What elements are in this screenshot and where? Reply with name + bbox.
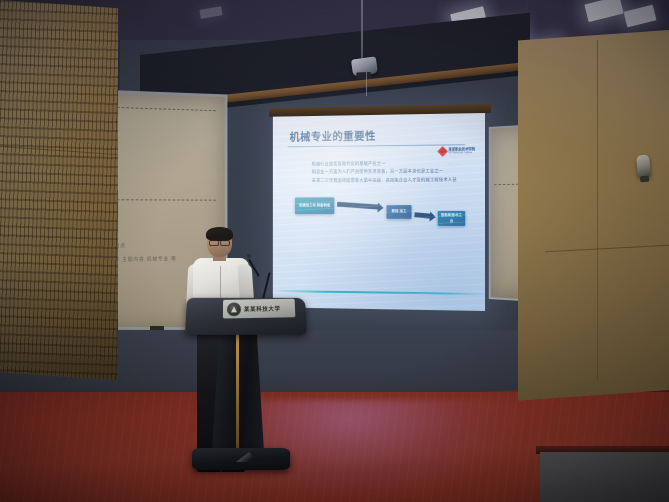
slide-logo: 某某职业技术学院 XX Polytechnic Institute	[439, 147, 475, 155]
wood-panel-left-shading	[0, 0, 118, 380]
slide-flowchart: 机械加工与 装备制造 数控 加工 智能制造与工 业	[295, 197, 467, 231]
slide-accent-line	[273, 290, 485, 295]
projector-cable	[366, 72, 367, 96]
logo-line2: XX Polytechnic Institute	[448, 152, 475, 155]
eyeglasses-icon	[209, 239, 230, 244]
podium-nameplate: 某某科技大学	[223, 299, 295, 319]
wall-speaker	[636, 154, 651, 177]
flow-box-1: 机械加工与 装备制造	[295, 197, 334, 214]
slide-body: 机械行业是实现现代化的基础产业之一 制造业一方面为人们产品提供先进装备，另一方面…	[312, 159, 465, 185]
flow-box-2: 数控 加工	[386, 205, 411, 219]
lower-floor-area	[540, 452, 669, 502]
wood-panel-seam	[597, 40, 598, 380]
slide-body-line: 未来二三年我国将既需要大量中高级、高技能企业人才及机械工程技术人员	[312, 176, 465, 185]
screen-surface: 机械专业的重要性 某某职业技术学院 XX Polytechnic Institu…	[273, 113, 485, 311]
lecture-hall-photo: 时间 地点 主讲 主题内容 机械专业 等 机械专业的重要性 某某职业技术学院 X…	[0, 0, 669, 502]
projector-mount-rod	[361, 0, 363, 60]
microphone-head	[247, 254, 251, 258]
wood-panel-right-shading	[518, 30, 669, 401]
flow-box-3: 智能制造与工 业	[438, 211, 465, 226]
ceiling-projector	[351, 56, 378, 76]
logo-diamond-icon	[437, 146, 448, 157]
projection-screen: 机械专业的重要性 某某职业技术学院 XX Polytechnic Institu…	[273, 113, 485, 311]
flow-arrow-1	[337, 202, 379, 210]
logo-text: 某某职业技术学院 XX Polytechnic Institute	[448, 148, 475, 155]
podium-gold-stripe	[236, 333, 239, 451]
slide-title: 机械专业的重要性	[289, 128, 375, 145]
podium-institution-name: 某某科技大学	[244, 304, 281, 312]
flow-arrow-2	[414, 212, 431, 218]
university-crest-icon	[227, 302, 241, 316]
board-handwriting-line2: 主讲 主题内容 机械专业 等	[109, 255, 177, 263]
